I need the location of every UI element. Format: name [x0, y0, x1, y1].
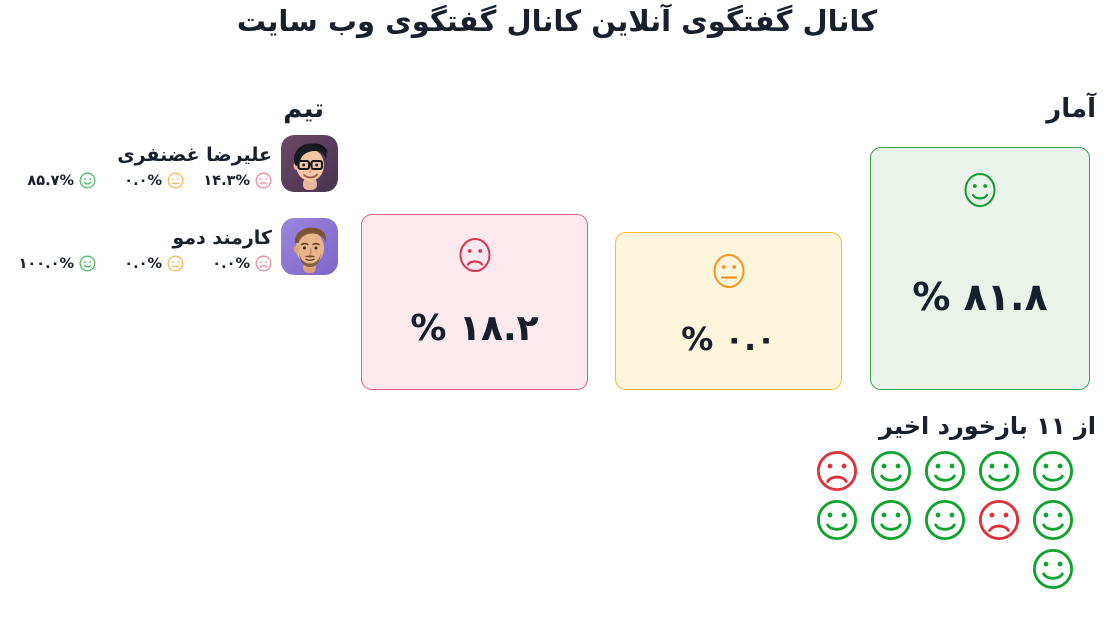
happy-face-icon	[1031, 497, 1075, 543]
stat-card-positive[interactable]: ۸۱.۸ %	[870, 147, 1090, 390]
feedback-item[interactable]	[810, 447, 863, 494]
avatar[interactable]	[281, 218, 338, 275]
neutral-face-icon	[709, 249, 749, 293]
happy-face-icon	[869, 448, 913, 494]
neutral-face-icon	[167, 172, 184, 189]
feedback-item[interactable]	[1026, 545, 1079, 592]
team-member-header: کارمند دمو	[0, 219, 338, 255]
recent-feedback-grid	[810, 447, 1100, 592]
stat-card-value: ۰.۰ %	[681, 323, 775, 355]
team-member-name: کارمند دمو	[172, 227, 272, 249]
stats-cards-area: ۱۸.۲ % ۰.۰ % ۸۱.۸ %	[355, 130, 1100, 390]
neutral-face-icon	[167, 255, 184, 272]
team-member-row[interactable]: علیرضا غضنفری ۱۴.۳%	[0, 136, 338, 219]
sad-face-icon	[455, 233, 495, 277]
feedback-item[interactable]	[1026, 496, 1079, 543]
sad-face-icon	[255, 172, 272, 189]
member-positive-stat: ۸۵.۷%	[8, 172, 96, 189]
member-negative-value: ۱۴.۳%	[203, 173, 250, 189]
feedback-item[interactable]	[972, 496, 1025, 543]
feedback-item[interactable]	[1026, 447, 1079, 494]
happy-face-icon	[923, 448, 967, 494]
happy-face-icon	[1031, 448, 1075, 494]
team-panel: علیرضا غضنفری ۱۴.۳%	[0, 136, 338, 302]
stat-card-negative[interactable]: ۱۸.۲ %	[361, 214, 588, 390]
team-member-stats: ۰.۰% ۰.۰% ۱۰۰.۰%	[8, 255, 272, 272]
happy-face-icon	[869, 497, 913, 543]
feedback-item[interactable]	[810, 496, 863, 543]
feedback-item[interactable]	[918, 496, 971, 543]
member-negative-stat: ۰.۰%	[184, 255, 272, 272]
happy-face-icon	[79, 172, 96, 189]
stat-card-value: ۸۱.۸ %	[912, 278, 1047, 316]
feedback-item[interactable]	[972, 447, 1025, 494]
team-member-stats: ۱۴.۳% ۰.۰% ۸۵.۷%	[8, 172, 272, 189]
member-negative-value: ۰.۰%	[212, 256, 250, 272]
team-section-heading: تیم	[283, 94, 324, 124]
happy-face-icon	[1031, 546, 1075, 592]
stats-section-heading: آمار	[1046, 94, 1096, 124]
member-neutral-value: ۰.۰%	[124, 256, 162, 272]
sad-face-icon	[977, 497, 1021, 543]
stat-card-neutral[interactable]: ۰.۰ %	[615, 232, 842, 390]
member-negative-stat: ۱۴.۳%	[184, 172, 272, 189]
stat-card-icon-wrap	[455, 233, 495, 279]
happy-face-icon	[923, 497, 967, 543]
stat-card-value: ۱۸.۲ %	[410, 311, 538, 347]
recent-feedback-title: از ۱۱ بازخورد اخیر	[810, 412, 1096, 440]
recent-feedback-panel: از ۱۱ بازخورد اخیر	[810, 412, 1100, 592]
member-positive-value: ۸۵.۷%	[27, 173, 74, 189]
stat-card-icon-wrap	[960, 168, 1000, 214]
happy-face-icon	[960, 168, 1000, 212]
happy-face-icon	[79, 255, 96, 272]
sad-face-icon	[815, 448, 859, 494]
happy-face-icon	[977, 448, 1021, 494]
member-positive-stat: ۱۰۰.۰%	[8, 255, 96, 272]
feedback-item[interactable]	[864, 447, 917, 494]
member-positive-value: ۱۰۰.۰%	[19, 256, 74, 272]
member-neutral-value: ۰.۰%	[124, 173, 162, 189]
sad-face-icon	[255, 255, 272, 272]
team-member-header: علیرضا غضنفری	[0, 136, 338, 172]
feedback-item[interactable]	[864, 496, 917, 543]
page-title: کانال گفتگوی آنلاین کانال گفتگوی وب سایت	[0, 2, 1114, 41]
stat-card-icon-wrap	[709, 249, 749, 295]
team-member-row[interactable]: کارمند دمو ۰.۰% ۰.۰%	[0, 219, 338, 302]
feedback-item[interactable]	[918, 447, 971, 494]
team-member-name: علیرضا غضنفری	[117, 144, 272, 166]
member-neutral-stat: ۰.۰%	[96, 172, 184, 189]
happy-face-icon	[815, 497, 859, 543]
member-neutral-stat: ۰.۰%	[96, 255, 184, 272]
avatar[interactable]	[281, 135, 338, 192]
